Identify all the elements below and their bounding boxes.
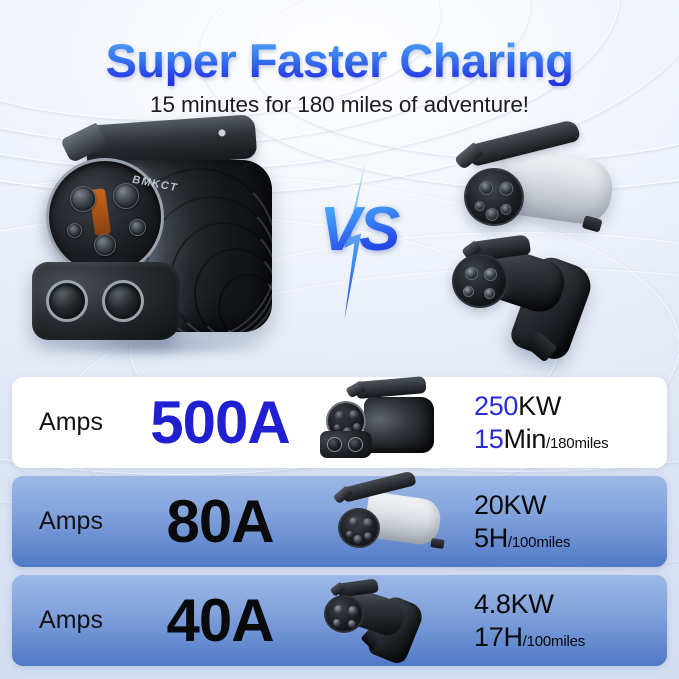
thumb-pin: [333, 619, 341, 627]
thumb-pin: [348, 606, 358, 616]
time-per-distance: /100miles: [523, 633, 585, 650]
power-number: 4.8: [474, 589, 511, 619]
connector-pin: [484, 288, 495, 299]
connector-pin: [500, 203, 512, 215]
hero-section: BMKCT VS: [0, 118, 679, 368]
power-spec: 4.8KW: [474, 588, 667, 621]
thumb-handle: [355, 375, 426, 398]
time-number: 5: [474, 523, 489, 553]
row-product-image-black-gun: [310, 579, 460, 663]
time-per-distance: /100miles: [508, 534, 570, 551]
dc-pin: [102, 280, 144, 322]
amps-label: Amps: [12, 606, 130, 635]
power-unit: KW: [518, 391, 561, 421]
comparison-table: Amps 500A 250KW: [12, 377, 667, 674]
connector-pin: [463, 286, 474, 297]
power-unit: KW: [503, 490, 546, 520]
connector-pin: [498, 181, 514, 197]
time-spec: 15Min/180miles: [474, 423, 667, 456]
thumb-pin: [353, 423, 361, 431]
time-per-distance: /180miles: [546, 435, 608, 452]
hero-black-j1772-gun-image: [448, 238, 623, 356]
ac-pin: [129, 219, 146, 236]
hero-gray-j1772-adapter-image: [452, 132, 617, 237]
dc-port: [32, 262, 180, 340]
thumb-pin: [353, 534, 363, 544]
thumb-dc-port: [320, 431, 372, 458]
thumb-pin: [348, 620, 356, 628]
time-unit: H: [489, 523, 508, 553]
connector-pin: [474, 200, 485, 211]
row-specs: 250KW 15Min/180miles: [460, 390, 667, 456]
amps-value: 40A: [130, 591, 310, 651]
amps-value: 500A: [130, 393, 310, 453]
thumb-nose: [324, 595, 364, 633]
power-number: 250: [474, 391, 518, 421]
thumb-body: [364, 397, 434, 453]
time-unit: Min: [503, 424, 546, 454]
row-specs: 4.8KW 17H/100miles: [460, 588, 667, 654]
ac-pin: [113, 183, 139, 209]
amps-label: Amps: [12, 507, 130, 536]
thumb-pin: [334, 605, 344, 615]
connector-pin: [485, 207, 500, 222]
comparison-row-40a: Amps 40A 4.8KW 17H/10: [12, 575, 667, 666]
versus-label: VS: [304, 194, 414, 265]
ac-pin: [67, 223, 82, 238]
gun-nose: [452, 254, 508, 308]
connector-pin: [465, 267, 478, 280]
thumb-pin: [363, 531, 372, 540]
thumb-pin: [362, 517, 373, 528]
thumb-pin: [349, 410, 359, 420]
thumb-pin: [335, 411, 345, 421]
thumb-pin: [346, 530, 354, 538]
comparison-row-500a: Amps 500A 250KW: [12, 377, 667, 468]
amps-label: Amps: [12, 408, 130, 437]
power-number: 20: [474, 490, 503, 520]
thumb-pin: [348, 516, 359, 527]
time-unit: H: [503, 622, 522, 652]
connector-pin: [484, 268, 497, 281]
thumb-tab: [430, 538, 444, 549]
connector-pin: [478, 180, 494, 196]
page-subtitle: 15 minutes for 180 miles of adventure!: [0, 92, 679, 118]
gun-cable: [525, 331, 558, 363]
power-spec: 20KW: [474, 489, 667, 522]
page-title: Super Faster Charing: [0, 36, 679, 86]
header: Super Faster Charing 15 minutes for 180 …: [0, 36, 679, 118]
thumb-dc-pin: [327, 437, 342, 452]
row-specs: 20KW 5H/100miles: [460, 489, 667, 555]
time-spec: 5H/100miles: [474, 522, 667, 555]
thumb-dc-pin: [348, 437, 363, 452]
ac-pin: [94, 234, 116, 256]
comparison-row-80a: Amps 80A 20KW 5H/100miles: [12, 476, 667, 567]
amps-value: 80A: [130, 492, 310, 552]
row-product-image-gray-j1772: [310, 480, 460, 564]
row-product-image-ccs1: [310, 381, 460, 465]
time-number: 15: [474, 424, 503, 454]
time-number: 17: [474, 622, 503, 652]
thumb-pin: [334, 424, 341, 431]
versus-badge: VS: [304, 166, 414, 316]
time-spec: 17H/100miles: [474, 621, 667, 654]
power-spec: 250KW: [474, 390, 667, 423]
adapter-tab: [582, 215, 603, 232]
ac-pin: [70, 186, 96, 212]
hero-ccs1-adapter-image: BMKCT: [28, 120, 278, 355]
dc-pin: [46, 280, 88, 322]
power-unit: KW: [511, 589, 554, 619]
